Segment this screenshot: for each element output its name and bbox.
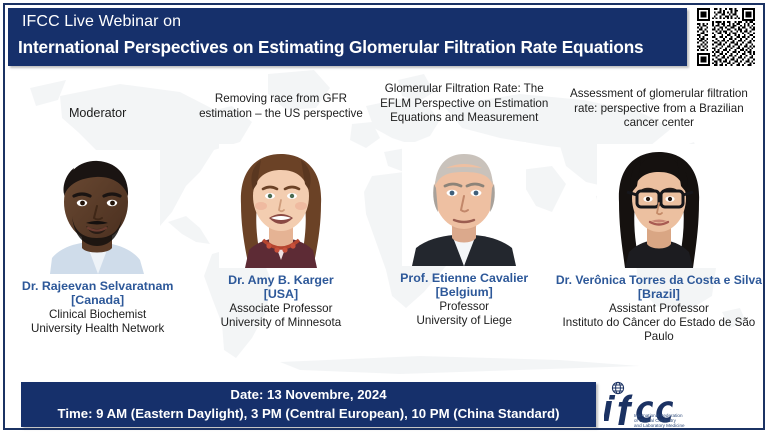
ifcc-logo[interactable]: International Federation of Clinical Che…: [604, 381, 708, 429]
globe-icon: [612, 382, 623, 393]
speaker-card: Glomerular Filtration Rate: The EFLM Per…: [373, 80, 556, 368]
portrait-photo: [597, 144, 721, 268]
speaker-role: Clinical Biochemist: [49, 308, 146, 322]
logo-tagline-line3: and Laboratory Medicine: [634, 423, 685, 428]
portrait-photo: [402, 142, 526, 266]
webinar-poster: IFCC Live Webinar on International Persp…: [0, 0, 768, 433]
talk-title: Removing race from GFR estimation – the …: [189, 80, 372, 142]
speaker-name: Dr. Rajeevan Selvaratnam: [22, 279, 174, 293]
speaker-country: [Brazil]: [638, 287, 680, 301]
qr-code-graphic: [692, 6, 760, 68]
speaker-organization: University of Liege: [413, 314, 516, 328]
speaker-card: Removing race from GFR estimation – the …: [189, 80, 372, 368]
talk-title: Glomerular Filtration Rate: The EFLM Per…: [373, 80, 556, 142]
speaker-role: Associate Professor: [229, 302, 332, 316]
speaker-organization: Instituto do Câncer do Estado de São Pau…: [556, 316, 762, 344]
speaker-role: Professor: [439, 300, 489, 314]
speaker-country: [Canada]: [71, 293, 124, 307]
ifcc-logo-graphic: International Federation of Clinical Che…: [604, 381, 708, 429]
avatar: [219, 144, 343, 268]
speaker-name: Dr. Verônica Torres da Costa e Silva: [556, 273, 762, 287]
speaker-card: Moderator: [6, 80, 189, 368]
avatar: [402, 142, 526, 266]
speaker-organization: University of Minnesota: [217, 316, 346, 330]
speaker-country: [USA]: [264, 287, 298, 301]
footer-banner: Date: 13 Novembre, 2024 Time: 9 AM (East…: [21, 382, 596, 427]
speakers-row: Moderator: [6, 80, 762, 368]
page-title: International Perspectives on Estimating…: [18, 37, 643, 58]
header-banner: IFCC Live Webinar on International Persp…: [8, 8, 687, 66]
avatar: [36, 150, 160, 274]
speaker-name: Prof. Etienne Cavalier: [400, 271, 528, 285]
event-date: Date: 13 Novembre, 2024: [21, 387, 596, 402]
speaker-country: [Belgium]: [436, 285, 493, 299]
speaker-card: Assessment of glomerular filtration rate…: [556, 80, 762, 368]
event-time: Time: 9 AM (Eastern Daylight), 3 PM (Cen…: [21, 406, 596, 421]
talk-title: Moderator: [6, 80, 189, 142]
header-subtitle: IFCC Live Webinar on: [22, 13, 181, 31]
speaker-name: Dr. Amy B. Karger: [228, 273, 334, 287]
portrait-photo: [36, 150, 160, 274]
speaker-role: Assistant Professor: [609, 302, 709, 316]
avatar: [597, 144, 721, 268]
speaker-organization: University Health Network: [27, 322, 168, 336]
portrait-photo: [219, 144, 343, 268]
qr-code-icon[interactable]: [690, 4, 762, 70]
talk-title: Assessment of glomerular filtration rate…: [556, 80, 762, 142]
